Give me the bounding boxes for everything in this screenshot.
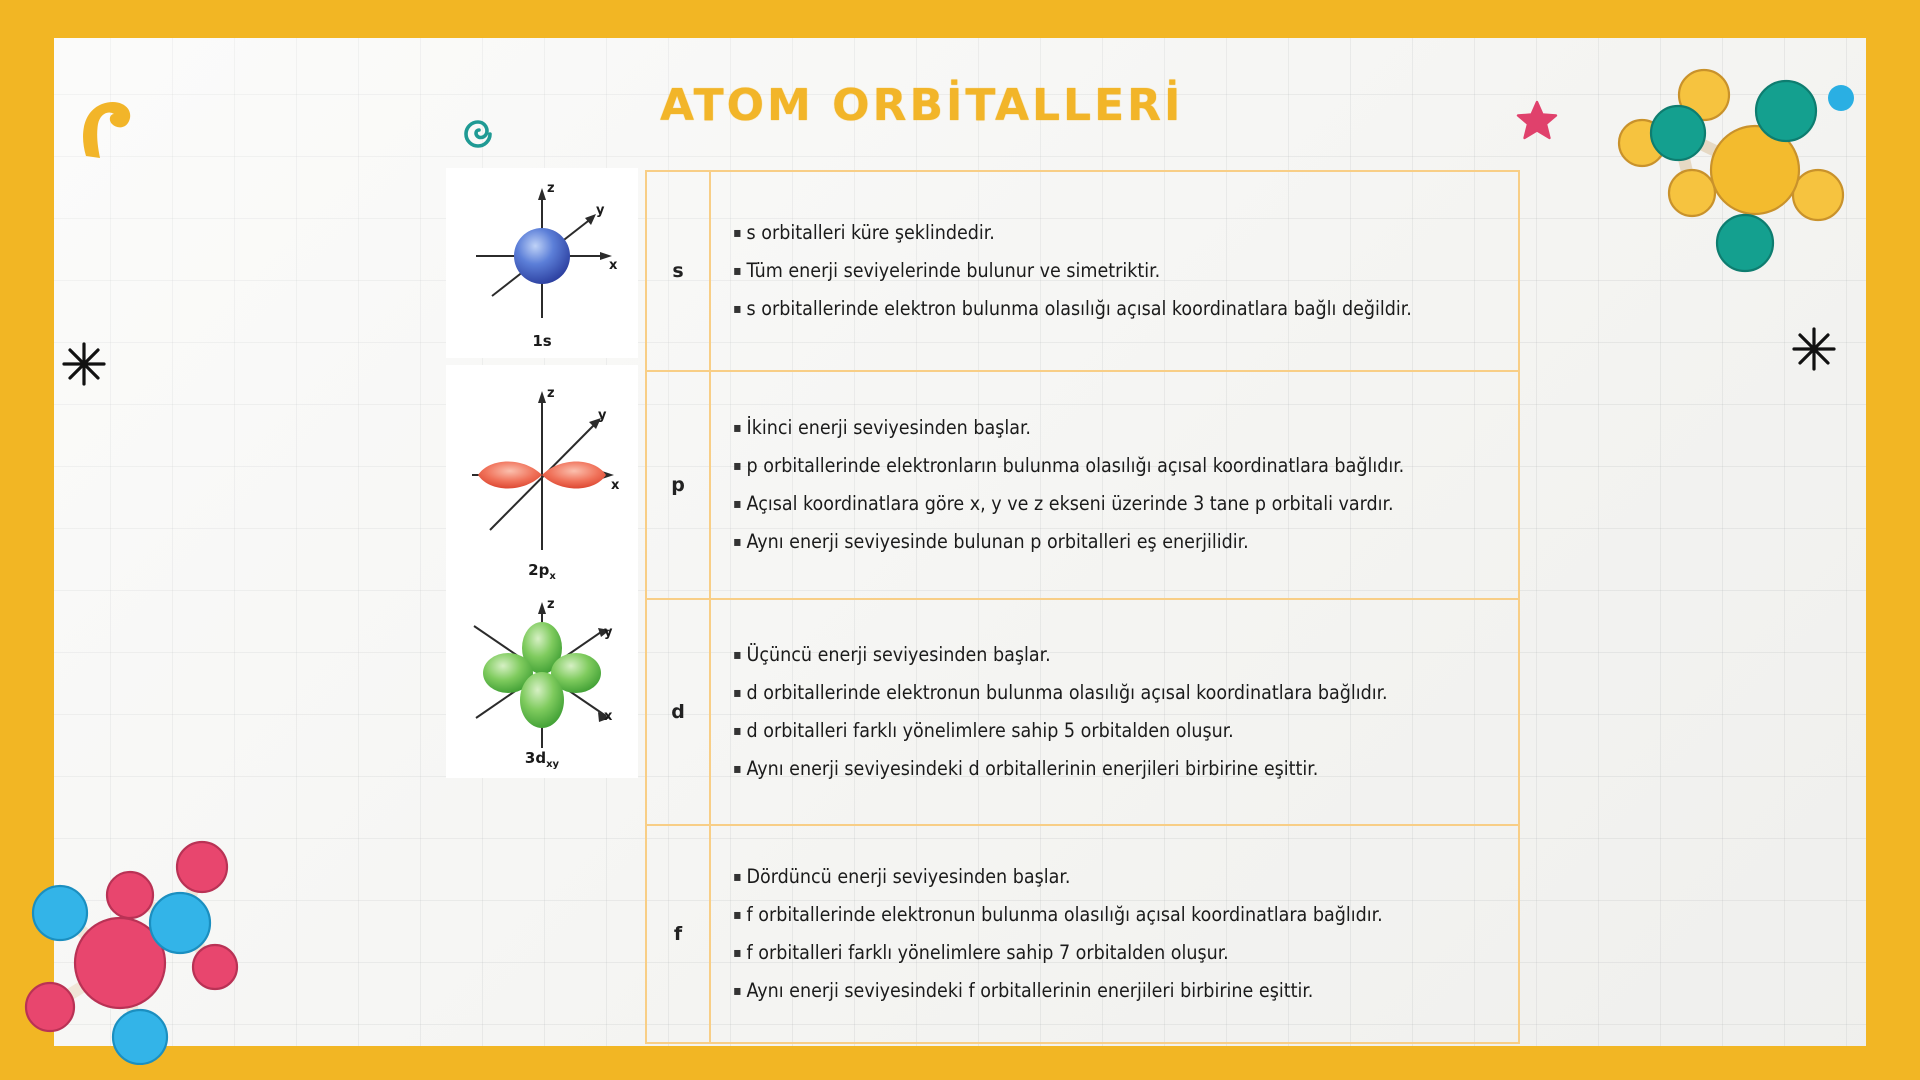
orbital-label-s: 1s xyxy=(446,332,638,350)
spiral-icon xyxy=(452,108,504,160)
asterisk-icon-right xyxy=(1790,325,1838,373)
orbital-label-d: 3dxy xyxy=(446,749,638,770)
axis-label-x: x xyxy=(611,478,620,493)
slide-root: ATOM ORBİTALLERİ xyxy=(0,0,1920,1080)
axis-label-z: z xyxy=(547,597,555,612)
orbital-symbol-s: s xyxy=(646,171,710,371)
axis-label-z: z xyxy=(547,181,555,196)
axis-label-y: y xyxy=(596,203,605,218)
bullet-item: ▪f orbitalleri farklı yönelimlere sahip … xyxy=(733,934,1500,972)
page-title: ATOM ORBİTALLERİ xyxy=(660,80,1183,131)
orbital-label-p: 2px xyxy=(446,561,638,582)
table-row-d: d ▪Üçüncü enerji seviyesinden başlar. ▪d… xyxy=(646,599,1519,825)
table-row-f: f ▪Dördüncü enerji seviyesinden başlar. … xyxy=(646,825,1519,1043)
orbital-symbol-f: f xyxy=(646,825,710,1043)
comma-shape-icon xyxy=(78,96,134,162)
bullet-item: ▪Üçüncü enerji seviyesinden başlar. xyxy=(733,636,1500,674)
bullet-item: ▪f orbitallerinde elektronun bulunma ola… xyxy=(733,896,1500,934)
bullet-item: ▪d orbitallerinde elektronun bulunma ola… xyxy=(733,674,1500,712)
bullet-item: ▪d orbitalleri farklı yönelimlere sahip … xyxy=(733,712,1500,750)
axis-label-x: x xyxy=(609,258,618,273)
orbital-image-p: z y x 2px xyxy=(446,365,638,590)
orbitals-table: s ▪s orbitalleri küre şeklindedir. ▪Tüm … xyxy=(645,170,1520,1044)
bullet-item: ▪Aynı enerji seviyesindeki d orbitalleri… xyxy=(733,750,1500,788)
orbital-symbol-d: d xyxy=(646,599,710,825)
molecule-top-right-icon xyxy=(1600,55,1870,295)
bullet-item: ▪Tüm enerji seviyelerinde bulunur ve sim… xyxy=(733,252,1500,290)
orbital-description-p: ▪İkinci enerji seviyesinden başlar. ▪p o… xyxy=(710,371,1519,599)
table-row-s: s ▪s orbitalleri küre şeklindedir. ▪Tüm … xyxy=(646,171,1519,371)
bullet-item: ▪İkinci enerji seviyesinden başlar. xyxy=(733,409,1500,447)
bullet-item: ▪s orbitalleri küre şeklindedir. xyxy=(733,214,1500,252)
axis-label-y: y xyxy=(604,625,613,640)
orbital-symbol-p: p xyxy=(646,371,710,599)
bullet-item: ▪Dördüncü enerji seviyesinden başlar. xyxy=(733,858,1500,896)
axis-label-z: z xyxy=(547,386,555,401)
axis-label-x: x xyxy=(604,709,613,724)
star-icon xyxy=(1516,100,1558,142)
orbital-description-d: ▪Üçüncü enerji seviyesinden başlar. ▪d o… xyxy=(710,599,1519,825)
bullet-item: ▪Aynı enerji seviyesinde bulunan p orbit… xyxy=(733,523,1500,561)
table-row-p: p ▪İkinci enerji seviyesinden başlar. ▪p… xyxy=(646,371,1519,599)
bullet-item: ▪Açısal koordinatlara göre x, y ve z eks… xyxy=(733,485,1500,523)
asterisk-icon-left xyxy=(60,340,108,388)
orbital-image-d: z y x 3dxy xyxy=(446,588,638,778)
molecule-bottom-left-icon xyxy=(20,815,270,1065)
bullet-item: ▪p orbitallerinde elektronların bulunma … xyxy=(733,447,1500,485)
bullet-item: ▪s orbitallerinde elektron bulunma olası… xyxy=(733,290,1500,328)
bullet-item: ▪Aynı enerji seviyesindeki f orbitalleri… xyxy=(733,972,1500,1010)
orbital-image-s: z y x 1s xyxy=(446,168,638,358)
orbital-description-f: ▪Dördüncü enerji seviyesinden başlar. ▪f… xyxy=(710,825,1519,1043)
axis-label-y: y xyxy=(598,408,607,423)
orbital-description-s: ▪s orbitalleri küre şeklindedir. ▪Tüm en… xyxy=(710,171,1519,371)
